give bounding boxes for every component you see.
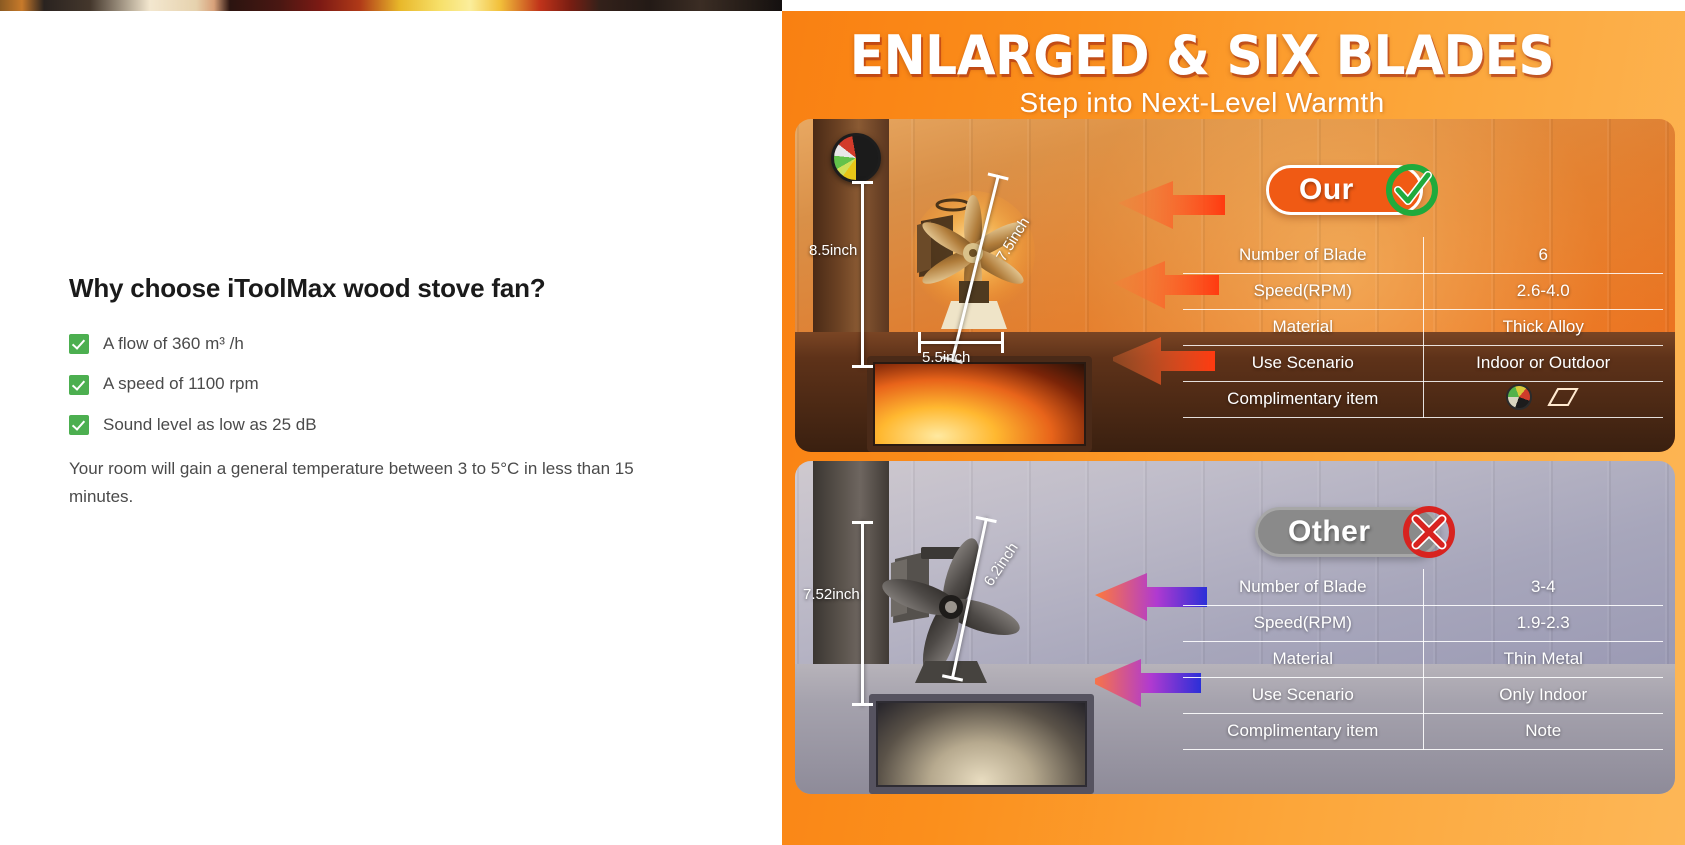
- height-dimension-bar: [861, 181, 864, 368]
- list-item: Sound level as low as 25 dB: [69, 415, 709, 435]
- copy-block: Why choose iToolMax wood stove fan? A fl…: [69, 273, 709, 510]
- spec-value: Thick Alloy: [1423, 309, 1663, 345]
- spec-key: Complimentary item: [1183, 381, 1423, 417]
- green-check-circle-icon: [1384, 162, 1440, 218]
- promo-subtitle: Step into Next-Level Warmth: [782, 87, 1622, 119]
- spec-value: 2.6-4.0: [1423, 273, 1663, 309]
- feature-label: A flow of 360 m³ /h: [103, 334, 244, 354]
- table-row: Number of Blade 3-4: [1183, 569, 1663, 605]
- page-title: Why choose iToolMax wood stove fan?: [69, 273, 709, 304]
- left-text-column: Why choose iToolMax wood stove fan? A fl…: [0, 11, 782, 845]
- check-icon: [69, 415, 89, 435]
- table-row: Speed(RPM) 1.9-2.3: [1183, 605, 1663, 641]
- spec-key: Complimentary item: [1183, 713, 1423, 749]
- feature-list: A flow of 360 m³ /h A speed of 1100 rpm …: [69, 334, 709, 435]
- spec-value: Indoor or Outdoor: [1423, 345, 1663, 381]
- table-row: Use Scenario Indoor or Outdoor: [1183, 345, 1663, 381]
- table-row: Material Thick Alloy: [1183, 309, 1663, 345]
- other-badge: Other: [1255, 507, 1440, 557]
- spec-key: Number of Blade: [1183, 237, 1423, 273]
- other-panel: 7.52inch 6.2inch Other: [795, 461, 1675, 794]
- six-blade-stove-fan-image: [891, 181, 1041, 341]
- our-badge-label: Our: [1299, 173, 1354, 207]
- table-row: Complimentary item Note: [1183, 713, 1663, 749]
- flames-graphic: [878, 703, 1085, 785]
- thermometer-magnet-icon: [1506, 384, 1532, 410]
- spec-value-gift: [1423, 381, 1663, 417]
- firebox: [869, 694, 1094, 794]
- table-row: Speed(RPM) 2.6-4.0: [1183, 273, 1663, 309]
- width-dimension-bar: [918, 341, 1004, 344]
- our-height-label: 8.5inch: [809, 242, 857, 259]
- four-blade-stove-fan-image: [873, 521, 1023, 686]
- spec-key: Use Scenario: [1183, 345, 1423, 381]
- spec-value: 1.9-2.3: [1423, 605, 1663, 641]
- spec-value: 6: [1423, 237, 1663, 273]
- promo-title: ENLARGED & SIX BLADES: [811, 24, 1592, 87]
- feature-label: A speed of 1100 rpm: [103, 374, 259, 394]
- spec-value: Note: [1423, 713, 1663, 749]
- table-row: Number of Blade 6: [1183, 237, 1663, 273]
- other-height-label: 7.52inch: [803, 586, 860, 603]
- spec-key: Speed(RPM): [1183, 273, 1423, 309]
- thermometer-magnet-icon: [831, 133, 881, 183]
- table-row: Complimentary item: [1183, 381, 1663, 417]
- table-row: Use Scenario Only Indoor: [1183, 677, 1663, 713]
- feature-label: Sound level as low as 25 dB: [103, 415, 317, 435]
- previous-image-sliver: [0, 0, 782, 11]
- our-width-label: 5.5inch: [922, 349, 970, 366]
- check-icon: [69, 334, 89, 354]
- product-detail-page: Why choose iToolMax wood stove fan? A fl…: [0, 0, 1685, 845]
- description-paragraph: Your room will gain a general temperatur…: [69, 455, 679, 510]
- red-cross-circle-icon: [1401, 504, 1457, 560]
- promo-infographic: ENLARGED & SIX BLADES Step into Next-Lev…: [782, 11, 1685, 845]
- other-spec-table: Number of Blade 3-4 Speed(RPM) 1.9-2.3 M…: [1183, 569, 1663, 750]
- spec-value: 3-4: [1423, 569, 1663, 605]
- check-icon: [69, 375, 89, 395]
- our-panel: 8.5inch 7.5inch 5.5inch Our: [795, 119, 1675, 452]
- spec-key: Material: [1183, 641, 1423, 677]
- spec-value: Thin Metal: [1423, 641, 1663, 677]
- height-dimension-bar: [861, 521, 864, 706]
- gift-icon-group: [1430, 384, 1658, 410]
- list-item: A flow of 360 m³ /h: [69, 334, 709, 354]
- our-badge: Our: [1266, 165, 1423, 215]
- spec-key: Speed(RPM): [1183, 605, 1423, 641]
- spec-key: Material: [1183, 309, 1423, 345]
- table-row: Material Thin Metal: [1183, 641, 1663, 677]
- heat-resistant-glove-icon: [1546, 386, 1580, 408]
- other-badge-label: Other: [1288, 515, 1371, 549]
- spec-value: Only Indoor: [1423, 677, 1663, 713]
- flames-graphic: [875, 364, 1084, 444]
- spec-key: Use Scenario: [1183, 677, 1423, 713]
- our-spec-table: Number of Blade 6 Speed(RPM) 2.6-4.0 Mat…: [1183, 237, 1663, 418]
- firebox: [867, 356, 1092, 452]
- spec-key: Number of Blade: [1183, 569, 1423, 605]
- list-item: A speed of 1100 rpm: [69, 374, 709, 394]
